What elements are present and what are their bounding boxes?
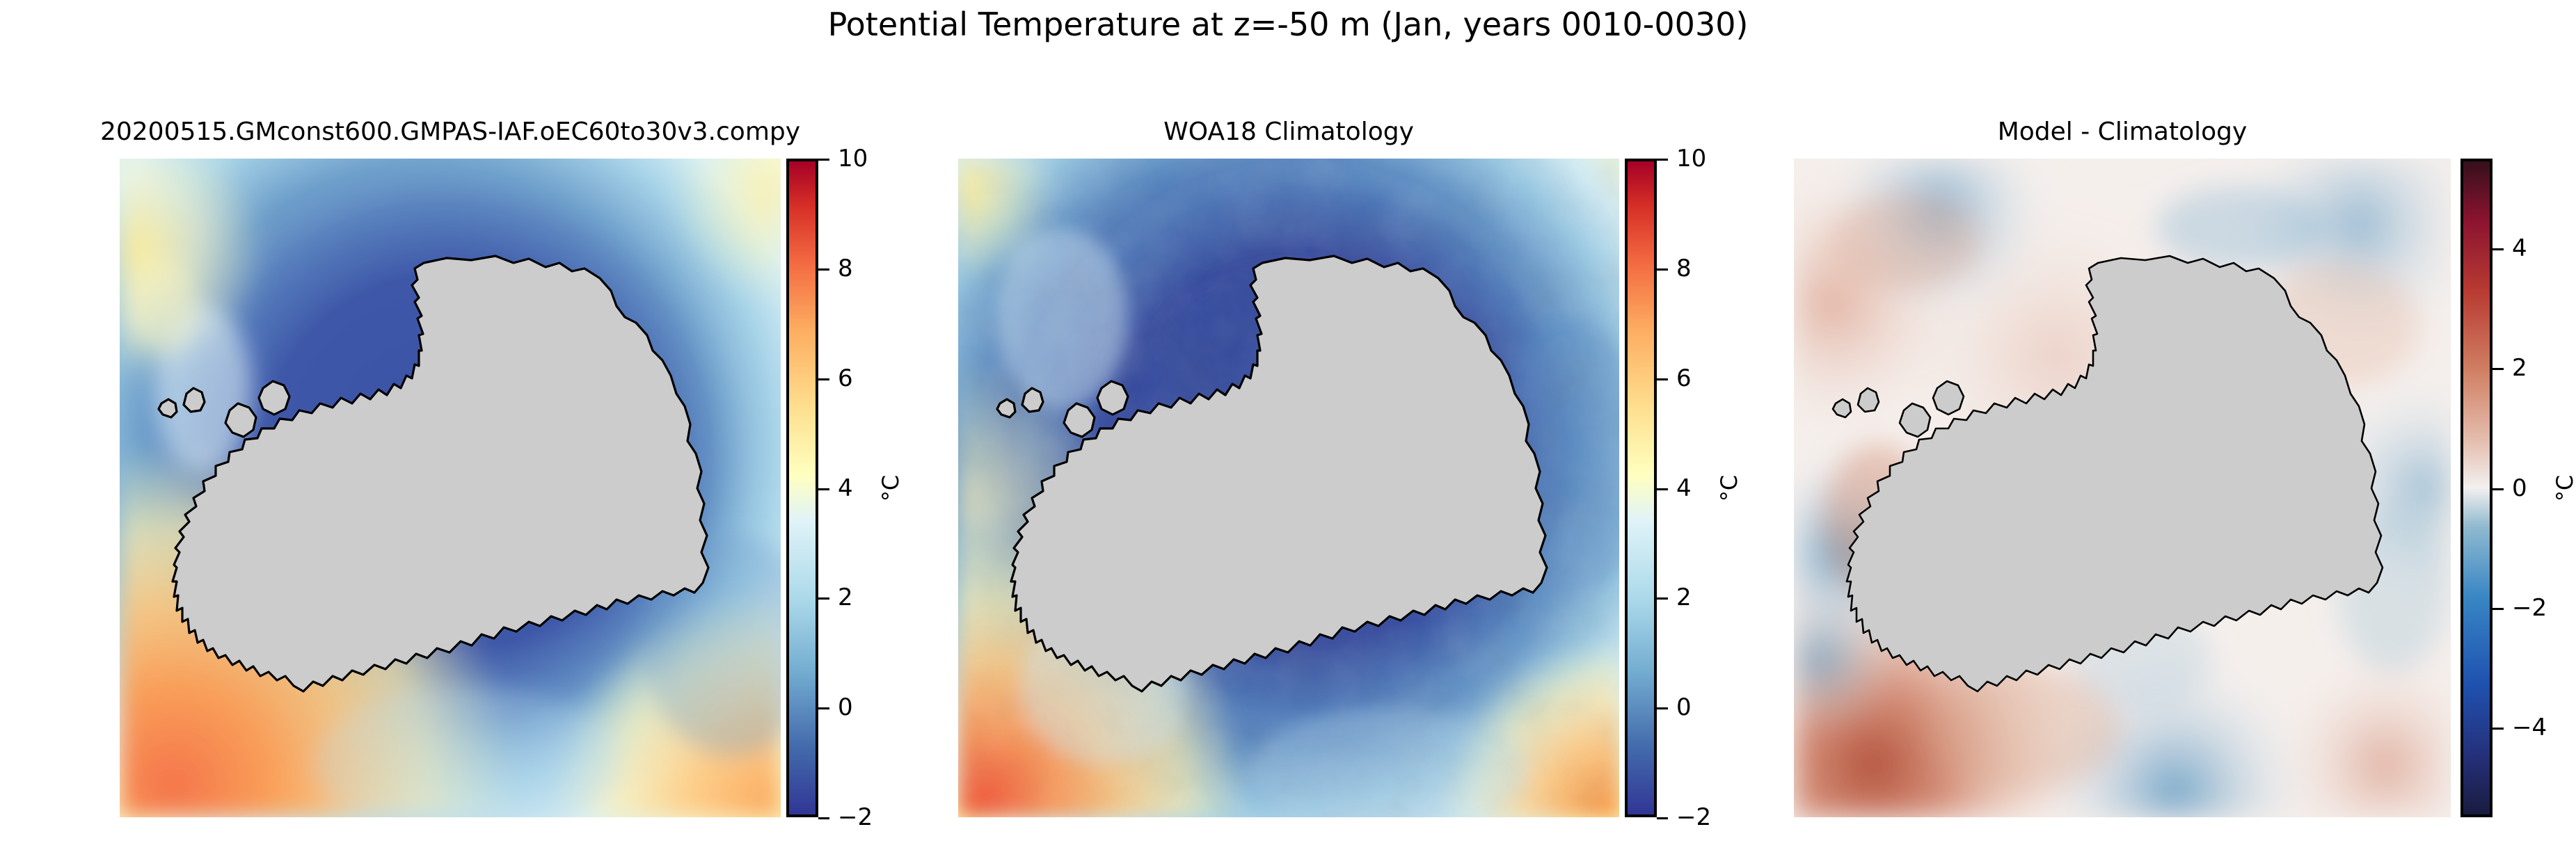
colorbar-tick [818,488,829,490]
panel-title-climatology: WOA18 Climatology [1163,118,1414,146]
antarctica-landmass-difference [1794,159,2451,817]
colorbar-tick-label: 2 [1676,584,1692,611]
colorbar-tick-label: 0 [1676,693,1692,721]
colorbar-tick-label: −2 [838,803,873,831]
colorbar-tick [1657,268,1668,271]
colorbar-gradient-model [786,159,818,817]
colorbar-tick [2492,248,2504,250]
colorbar-axis-label: °C [1716,475,1742,501]
map-difference[interactable] [1794,159,2451,817]
colorbar-tick-label: 0 [2512,474,2527,502]
colorbar-tick [818,159,829,161]
colorbar-tick [1657,159,1668,161]
temperature-field-model [120,159,781,817]
antarctica-landmass-model [120,159,781,817]
colorbar-tick-label: −4 [2512,714,2547,741]
map-climatology[interactable] [958,159,1619,817]
difference-field [1794,159,2451,817]
colorbar-axis-label: °C [877,475,904,501]
colorbar-tick [2492,368,2504,370]
colorbar-tick [2492,488,2504,490]
colorbar-tick-label: 8 [838,255,853,282]
panel-model: 20200515.GMconst600.GMPAS-IAF.oEC60to30v… [120,159,781,817]
colorbar-tick-label: −2 [2512,594,2547,622]
colorbar-tick-label: 10 [838,145,868,172]
colorbar-tick [818,597,829,600]
colorbar-tick [818,378,829,380]
colorbar-tick-label: −2 [1676,803,1711,831]
map-model[interactable] [120,159,781,817]
temperature-field-climatology [958,159,1619,817]
colorbar-tick-label: 4 [838,474,853,502]
colorbar-tick-label: 0 [838,693,853,721]
antarctica-landmass-climatology [958,159,1619,817]
colorbar-tick [1657,707,1668,709]
colorbar-tick [1657,817,1668,819]
panel-climatology: WOA18 Climatology [958,159,1619,817]
colorbar-tick-label: 6 [1676,364,1692,392]
colorbar-tick [2492,608,2504,610]
colorbar-tick-label: 10 [1676,145,1706,172]
panel-title-difference: Model - Climatology [1998,118,2248,146]
colorbar-tick [818,817,829,819]
colorbar-gradient-difference [2460,159,2492,817]
colorbar-tick [818,707,829,709]
colorbar-tick [1657,597,1668,600]
colorbar-tick-label: 8 [1676,255,1692,282]
colorbar-tick [1657,378,1668,380]
colorbar-tick-label: 2 [2512,354,2527,382]
colorbar-tick [818,268,829,271]
colorbar-tick [1657,488,1668,490]
colorbar-gradient-climatology [1625,159,1657,817]
colorbar-tick-label: 6 [838,364,853,392]
figure-title: Potential Temperature at z=-50 m (Jan, y… [0,6,2576,43]
panel-difference: Model - Climatology [1794,159,2451,817]
colorbar-tick [2492,728,2504,730]
colorbar-tick-label: 4 [2512,234,2527,262]
colorbar-tick-label: 2 [838,584,853,611]
panel-title-model: 20200515.GMconst600.GMPAS-IAF.oEC60to30v… [100,118,800,146]
colorbar-tick-label: 4 [1676,474,1692,502]
colorbar-axis-label: °C [2552,475,2576,501]
